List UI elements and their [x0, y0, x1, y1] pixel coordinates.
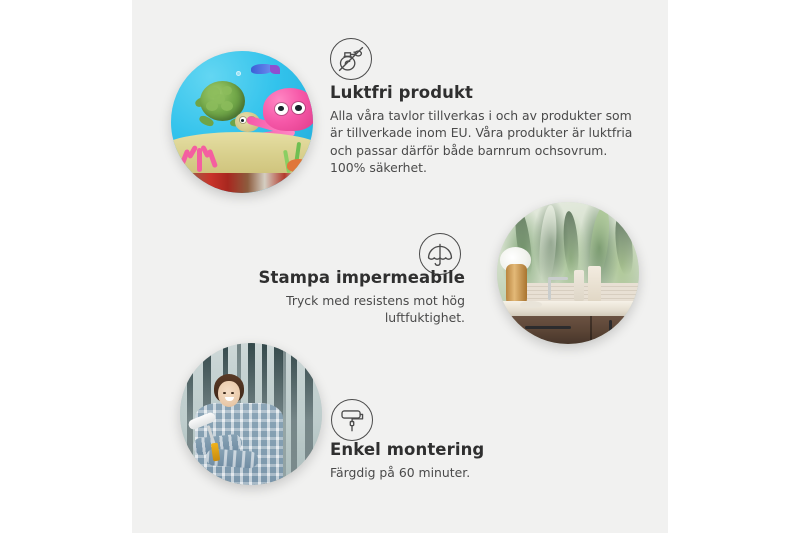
page-root: Luktfri produkt Alla våra tavlor tillver… — [0, 0, 800, 533]
paint-roller-icon — [331, 399, 373, 441]
photo-bathroom — [497, 202, 639, 344]
wood-vanity — [506, 316, 639, 344]
feature-block-odourless: Luktfri produkt Alla våra tavlor tillver… — [330, 83, 635, 177]
feature-body: Tryck med resistens mot hög luftfuktighe… — [215, 292, 465, 327]
octopus-head — [263, 88, 313, 131]
no-fragrance-icon — [330, 38, 372, 80]
toiletry-bottle — [574, 270, 584, 301]
cabinet-handle — [609, 320, 612, 338]
photo-underwater-art — [171, 51, 313, 193]
feature-block-waterproof: Stampa impermeabile Tryck med resistens … — [215, 268, 465, 327]
drawer-handle — [525, 326, 571, 329]
feature-block-easy-mounting: Enkel montering Färgdig på 60 minuter. — [330, 440, 590, 481]
smile — [225, 397, 233, 400]
feature-title: Stampa impermeabile — [215, 268, 465, 289]
starfish-icon — [287, 159, 310, 172]
woman-figure — [191, 374, 285, 485]
faucet-stem — [548, 279, 551, 300]
photo-forest-decorator — [180, 343, 322, 485]
toiletry-bottle — [588, 266, 601, 303]
feature-body: Alla våra tavlor tillverkas i och av pro… — [330, 107, 635, 177]
feature-body: Färgdig på 60 minuter. — [330, 464, 590, 482]
feature-title: Luktfri produkt — [330, 83, 635, 104]
fish-blue-tail-icon — [270, 65, 280, 74]
photo-bottom-strip — [171, 173, 313, 193]
faucet-spout — [548, 277, 568, 280]
photo-bathroom-art — [497, 202, 639, 344]
feature-title: Enkel montering — [330, 440, 590, 461]
coral-icon — [178, 136, 221, 172]
photo-underwater — [171, 51, 313, 193]
photo-forest-art — [180, 343, 322, 485]
